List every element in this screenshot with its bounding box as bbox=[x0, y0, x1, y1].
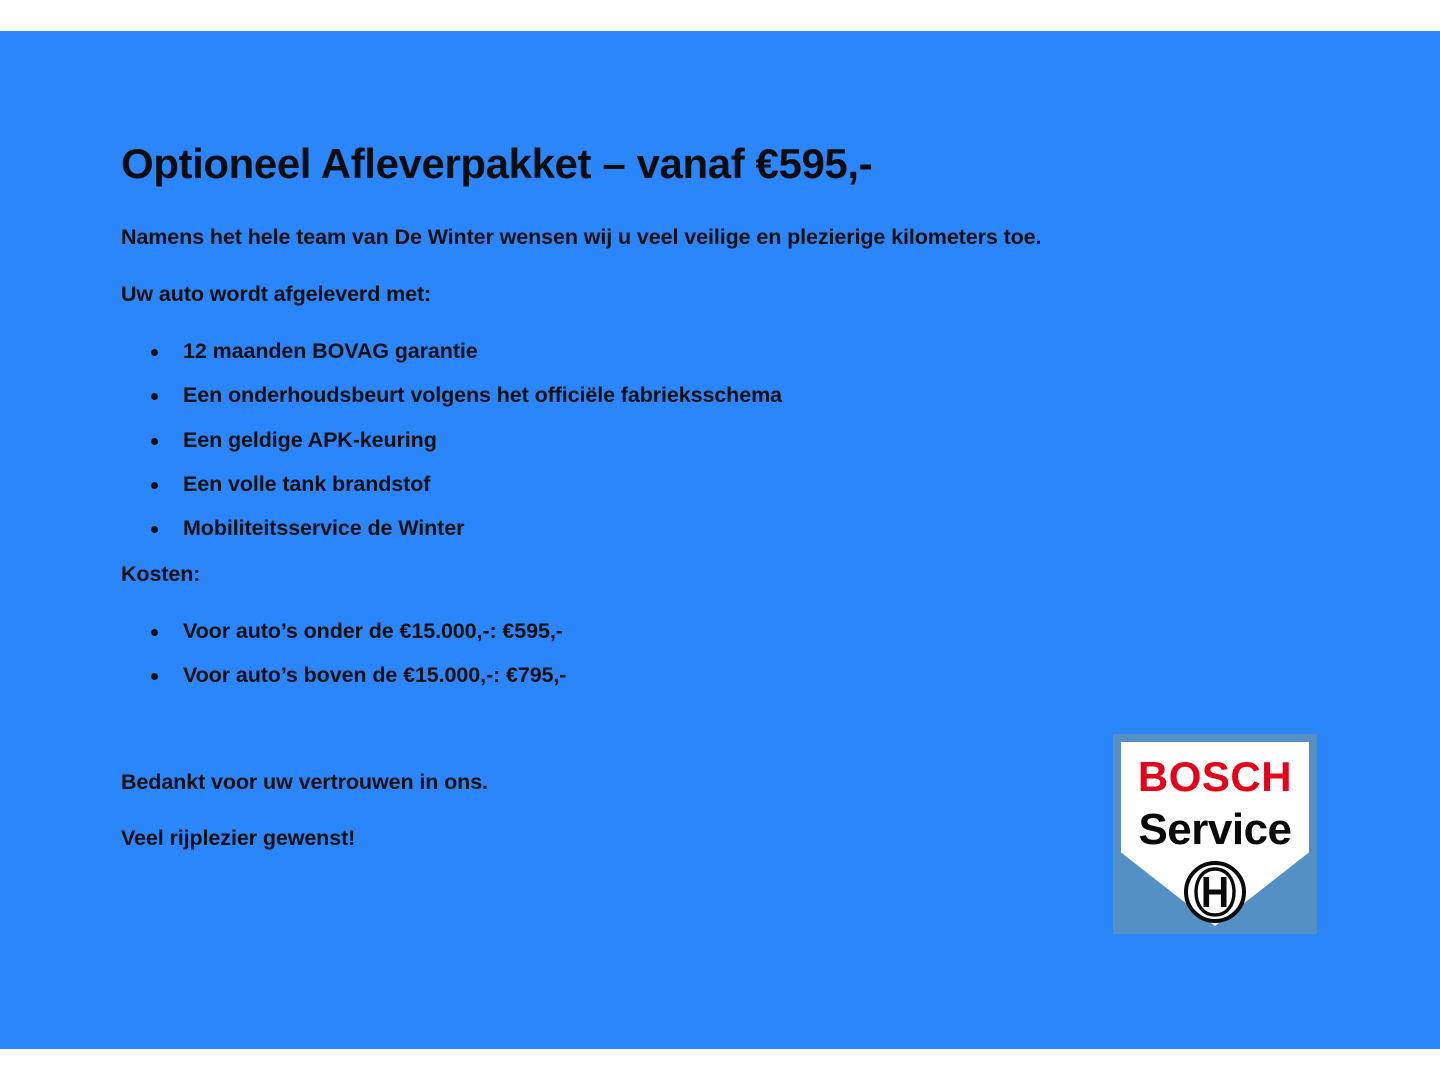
delivery-heading: Uw auto wordt afgeleverd met: bbox=[121, 281, 1321, 308]
list-item-label: Voor auto’s onder de €15.000,-: €595,- bbox=[183, 619, 563, 643]
list-item-label: 12 maanden BOVAG garantie bbox=[183, 339, 478, 363]
bullet-dot-icon bbox=[151, 438, 158, 445]
list-item-label: Een geldige APK-keuring bbox=[183, 428, 437, 452]
bullet-dot-icon bbox=[151, 349, 158, 356]
page-title: Optioneel Afleverpakket – vanaf €595,- bbox=[121, 141, 1321, 186]
bullet-dot-icon bbox=[151, 482, 158, 489]
list-item: Voor auto’s boven de €15.000,-: €795,- bbox=[121, 662, 1321, 688]
slide-root: Optioneel Afleverpakket – vanaf €595,- N… bbox=[0, 0, 1440, 1080]
list-item: Een onderhoudsbeurt volgens het officiël… bbox=[121, 382, 1321, 408]
list-item: Voor auto’s onder de €15.000,-: €595,- bbox=[121, 618, 1321, 644]
list-item: Een volle tank brandstof bbox=[121, 471, 1321, 497]
bullet-dot-icon bbox=[151, 629, 158, 636]
list-item-label: Een onderhoudsbeurt volgens het officiël… bbox=[183, 383, 782, 407]
bosch-armature-icon bbox=[1183, 860, 1247, 924]
list-item: Een geldige APK-keuring bbox=[121, 427, 1321, 453]
slide-canvas: Optioneel Afleverpakket – vanaf €595,- N… bbox=[0, 31, 1440, 1049]
bullet-dot-icon bbox=[151, 393, 158, 400]
list-item: 12 maanden BOVAG garantie bbox=[121, 338, 1321, 364]
costs-list: Voor auto’s onder de €15.000,-: €595,- V… bbox=[121, 618, 1321, 688]
intro-paragraph: Namens het hele team van De Winter wense… bbox=[121, 224, 1321, 251]
bosch-service-logo: BOSCH Service bbox=[1113, 734, 1317, 934]
list-item-label: Mobiliteitsservice de Winter bbox=[183, 516, 464, 540]
delivery-list: 12 maanden BOVAG garantie Een onderhouds… bbox=[121, 338, 1321, 541]
list-item-label: Een volle tank brandstof bbox=[183, 472, 430, 496]
bullet-dot-icon bbox=[151, 673, 158, 680]
service-wordmark: Service bbox=[1113, 808, 1317, 852]
list-item-label: Voor auto’s boven de €15.000,-: €795,- bbox=[183, 663, 566, 687]
bosch-wordmark: BOSCH bbox=[1113, 756, 1317, 798]
bullet-dot-icon bbox=[151, 526, 158, 533]
costs-heading: Kosten: bbox=[121, 561, 1321, 588]
list-item: Mobiliteitsservice de Winter bbox=[121, 515, 1321, 541]
